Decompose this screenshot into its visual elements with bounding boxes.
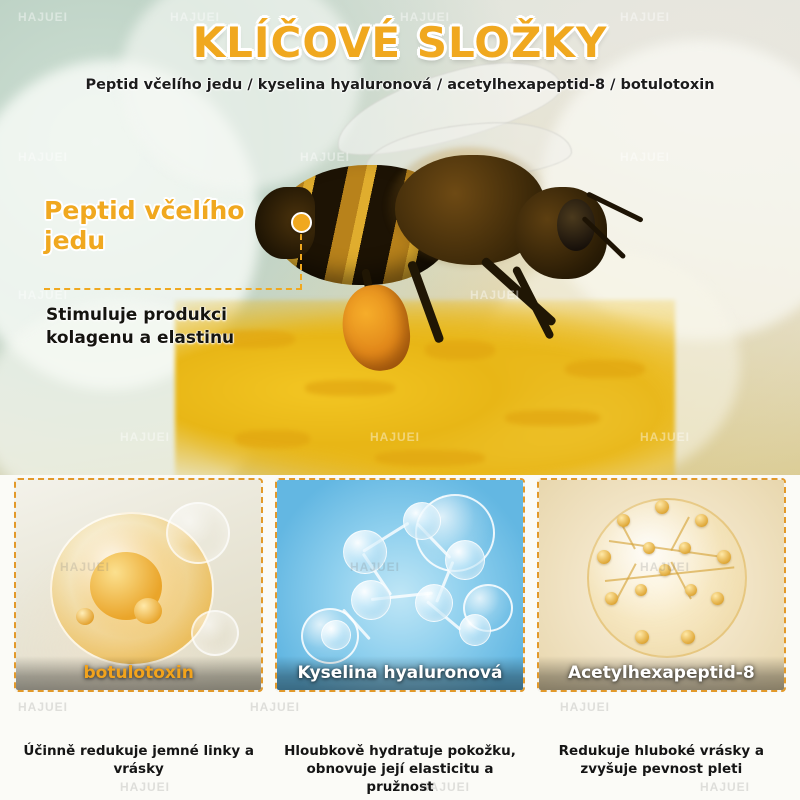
bee-leg	[407, 260, 445, 344]
callout-leader-line-horizontal	[44, 288, 302, 290]
card-label: Acetylhexapeptid-8	[539, 656, 784, 690]
caption-botulotoxin: Účinně redukuje jemné linky a vrásky	[14, 742, 263, 797]
bubble-outline	[166, 502, 230, 564]
card-label: Kyselina hyaluronová	[277, 656, 522, 690]
header-block: KLÍČOVÉ SLOŽKY Peptid včelího jedu / kys…	[0, 18, 800, 93]
molecule-node	[459, 614, 491, 646]
bubble-outline	[191, 610, 239, 656]
ingredient-cards: botulotoxin	[0, 478, 800, 716]
callout-bee-venom-peptide: Peptid včelího jedu Stimuluje produkci k…	[44, 196, 344, 255]
molecule-node	[445, 540, 485, 580]
pollen-basket	[337, 281, 414, 375]
caption-hyaluronic-acid: Hloubkově hydratuje pokožku, obnovuje je…	[275, 742, 524, 797]
oil-bubble-small	[76, 608, 94, 625]
sphere-shell	[587, 498, 747, 658]
molecule-node	[343, 530, 387, 574]
oil-bubble-small	[134, 598, 162, 624]
callout-description: Stimuluje produkci kolagenu a elastinu	[46, 304, 316, 350]
callout-leader-line-vertical	[300, 224, 302, 290]
ingredient-captions: Účinně redukuje jemné linky a vrásky Hlo…	[0, 742, 800, 797]
page-subtitle: Peptid včelího jedu / kyselina hyalurono…	[0, 77, 800, 93]
caption-acetylhexapeptide: Redukuje hluboké vrásky a zvyšuje pevnos…	[537, 742, 786, 797]
ingredient-card-hyaluronic-acid[interactable]: Kyselina hyaluronová	[275, 478, 524, 692]
ingredient-card-acetylhexapeptide[interactable]: Acetylhexapeptid-8	[537, 478, 786, 692]
infographic-page: KLÍČOVÉ SLOŽKY Peptid včelího jedu / kys…	[0, 0, 800, 800]
card-label: botulotoxin	[16, 656, 261, 690]
callout-marker-dot-icon	[291, 212, 312, 233]
page-title: KLÍČOVÉ SLOŽKY	[0, 18, 800, 67]
molecule-node	[351, 580, 391, 620]
ingredient-card-botulotoxin[interactable]: botulotoxin	[14, 478, 263, 692]
